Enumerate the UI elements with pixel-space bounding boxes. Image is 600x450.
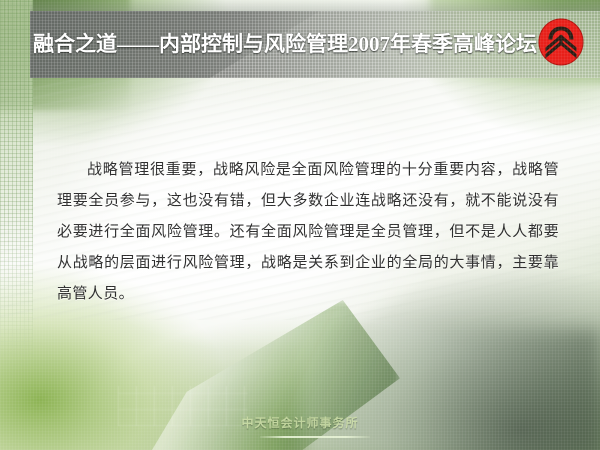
slide-footer: 中天恒会计师事务所: [0, 414, 600, 432]
zhongtianheng-logo-icon: [538, 18, 584, 66]
slide-body-paragraph: 战略管理很重要，战略风险是全面风险管理的十分重要内容，战略管理要全员参与，这也没…: [57, 155, 559, 310]
presentation-slide: 融合之道——内部控制与风险管理2007年春季高峰论坛 战略管理很重要，战略风险是…: [0, 0, 600, 450]
footer-divider-rule: [260, 436, 370, 438]
left-accent-strip: [0, 0, 33, 450]
footer-company-name: 中天恒会计师事务所: [241, 414, 358, 431]
slide-title: 融合之道——内部控制与风险管理2007年春季高峰论坛: [33, 25, 523, 61]
